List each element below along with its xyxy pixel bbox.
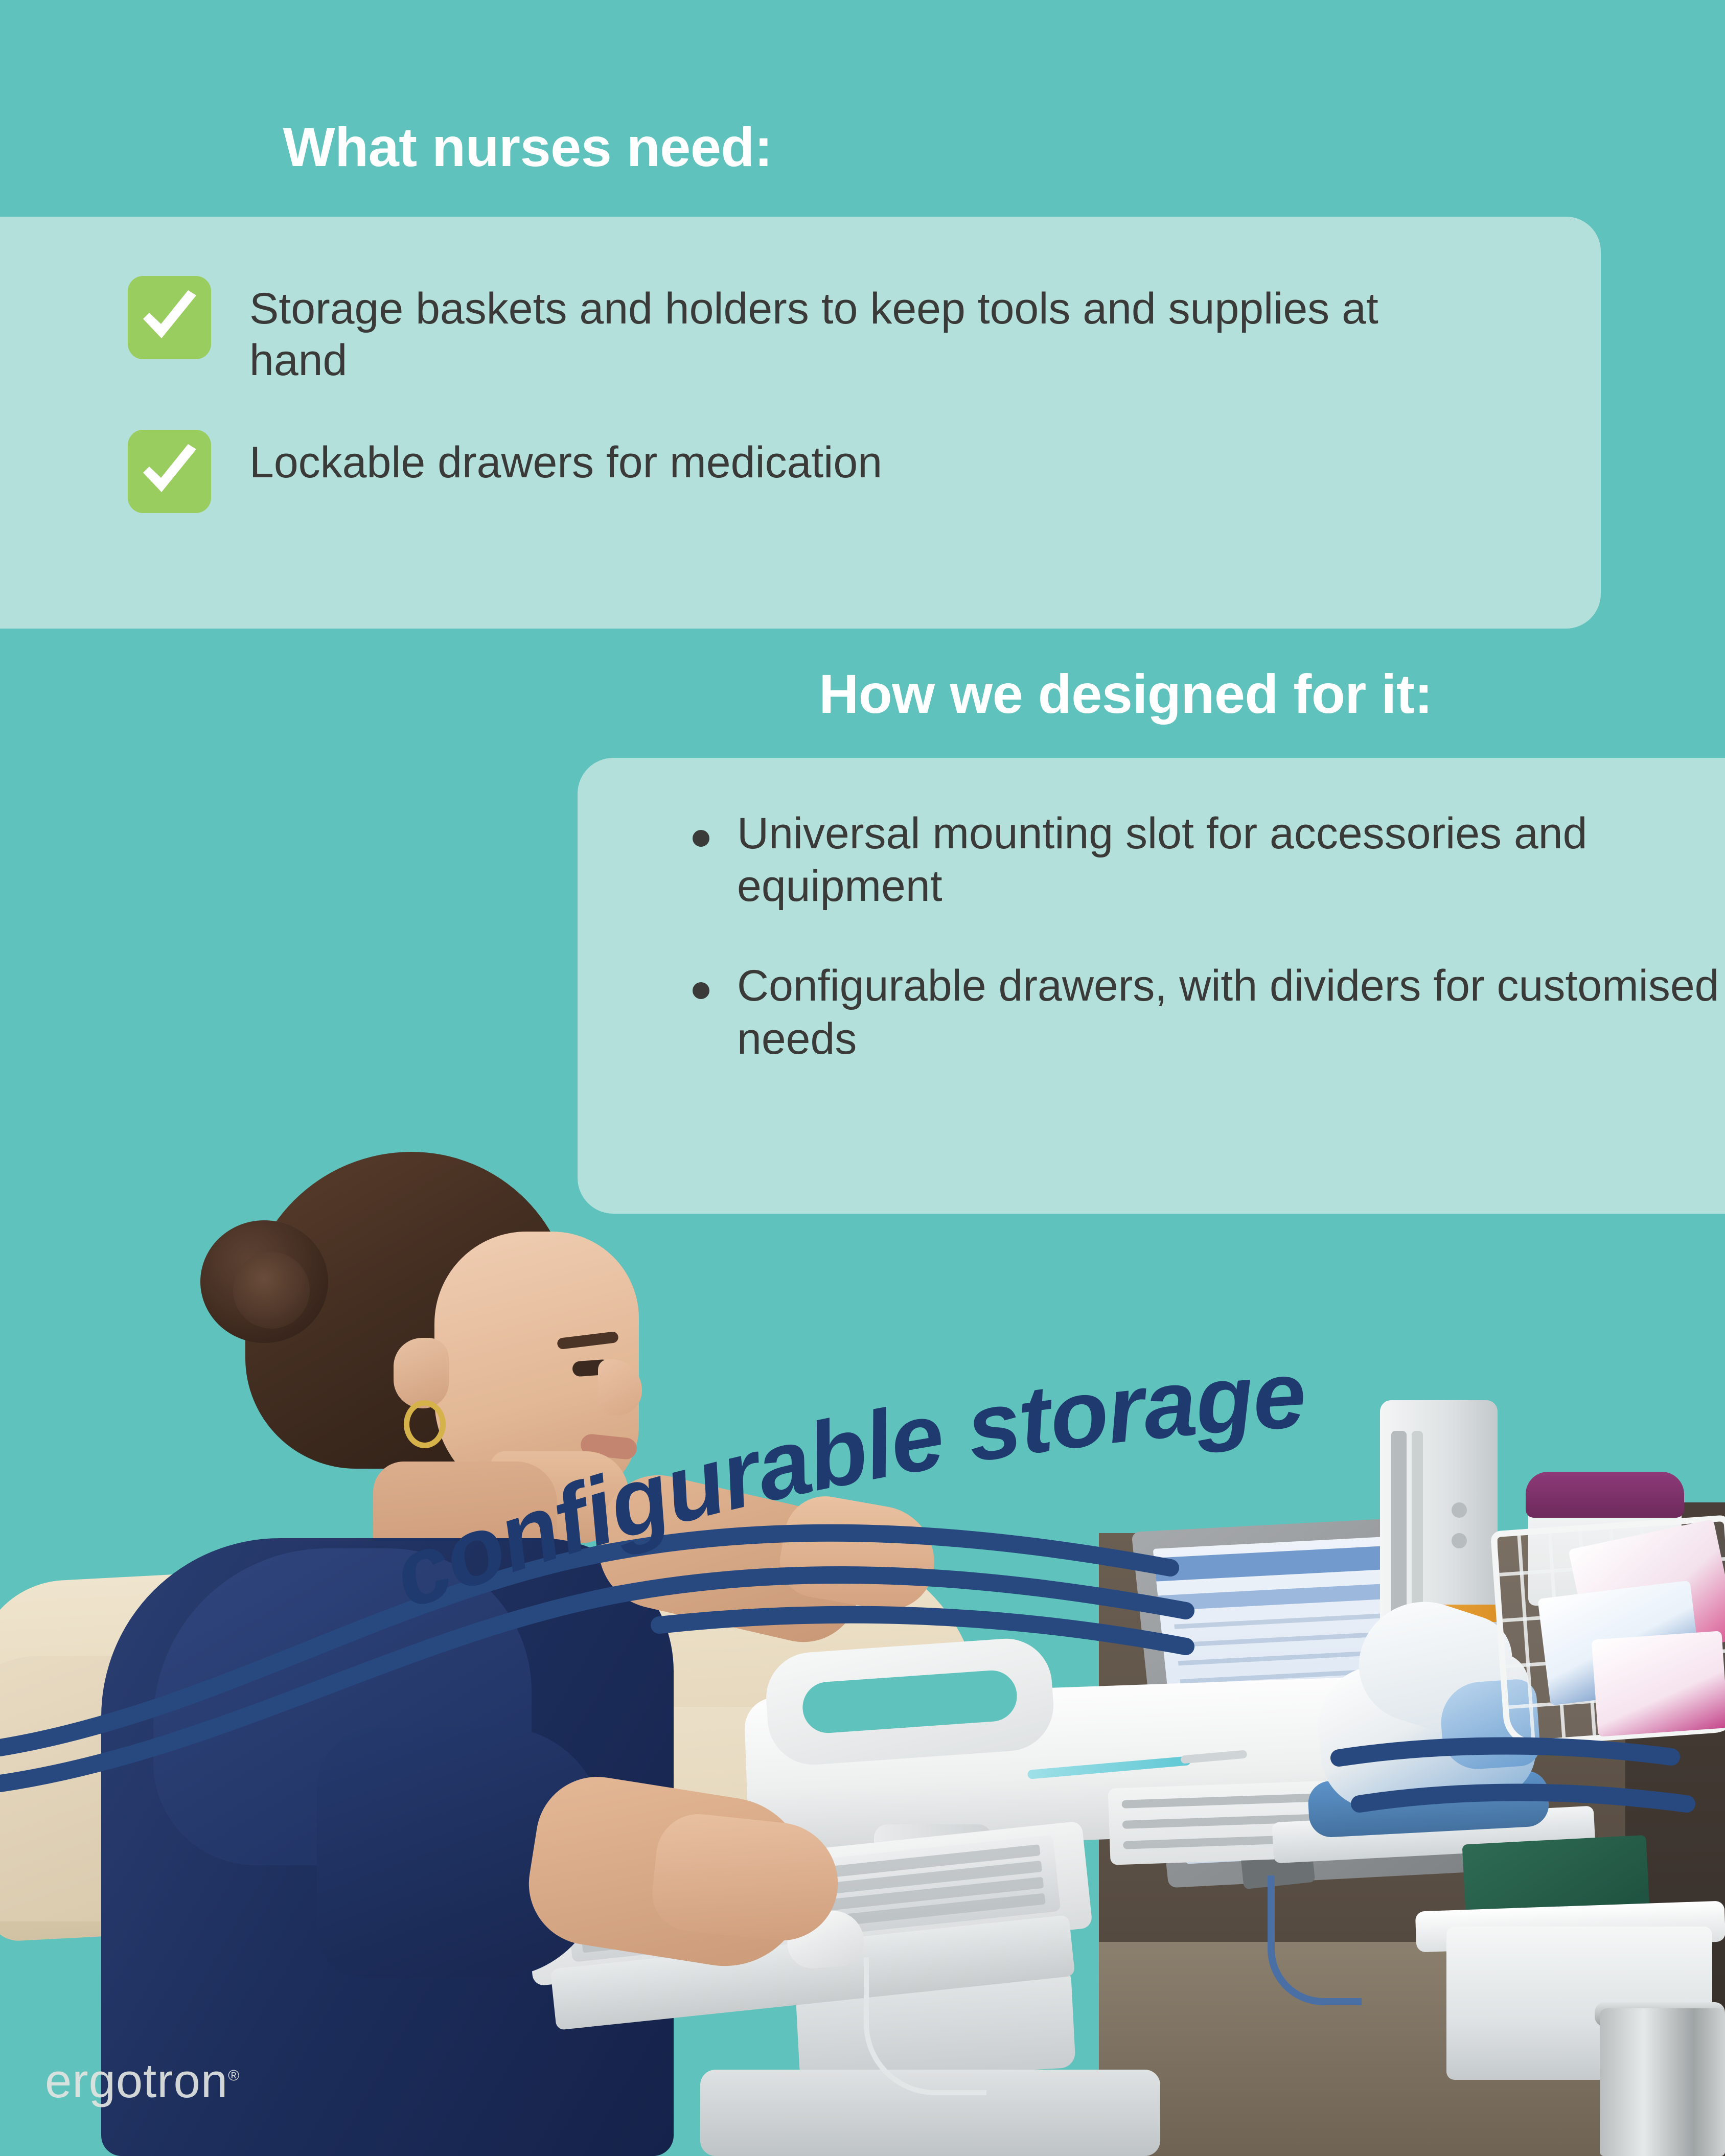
ergotron-logo: ergotron® <box>45 2053 239 2108</box>
needs-checklist: Storage baskets and holders to keep tool… <box>128 276 1559 556</box>
waste-bin <box>1600 2008 1725 2156</box>
logo-wordmark: ergotron <box>45 2054 228 2107</box>
bullet-dot-icon <box>693 830 709 847</box>
script-overlay-text: configurable storage <box>379 1341 1308 1629</box>
bullet-dot-icon <box>693 982 709 999</box>
monitor-cable <box>1268 1875 1362 2005</box>
infographic-poster: What nurses need: Storage baskets and ho… <box>0 0 1725 2156</box>
list-item-label: Lockable drawers for medication <box>249 430 882 489</box>
list-item: Universal mounting slot for accessories … <box>693 807 1725 913</box>
list-item: Lockable drawers for medication <box>128 430 1559 513</box>
design-bullet-list: Universal mounting slot for accessories … <box>693 807 1725 1112</box>
check-icon <box>128 276 211 359</box>
registered-trademark-icon: ® <box>228 2068 239 2084</box>
list-item: Configurable drawers, with dividers for … <box>693 960 1725 1065</box>
list-item: Storage baskets and holders to keep tool… <box>128 276 1559 387</box>
post-button <box>1452 1533 1467 1548</box>
check-icon <box>128 430 211 513</box>
list-item-label: Storage baskets and holders to keep tool… <box>249 276 1425 387</box>
page-title-how-designed: How we designed for it: <box>0 663 1725 725</box>
sharps-container-lid <box>1526 1472 1684 1518</box>
nurse-hair-bun-inner <box>233 1252 310 1329</box>
list-item-label: Configurable drawers, with dividers for … <box>737 960 1725 1065</box>
page-title-nurses-need: What nurses need: <box>0 117 1725 178</box>
script-overlay-configurable-storage: configurable storage <box>399 1370 1380 1686</box>
svg-text:configurable storage: configurable storage <box>379 1341 1308 1629</box>
post-button <box>1452 1502 1467 1518</box>
list-item-label: Universal mounting slot for accessories … <box>737 807 1725 913</box>
nitrile-glove-box <box>1592 1631 1725 1736</box>
